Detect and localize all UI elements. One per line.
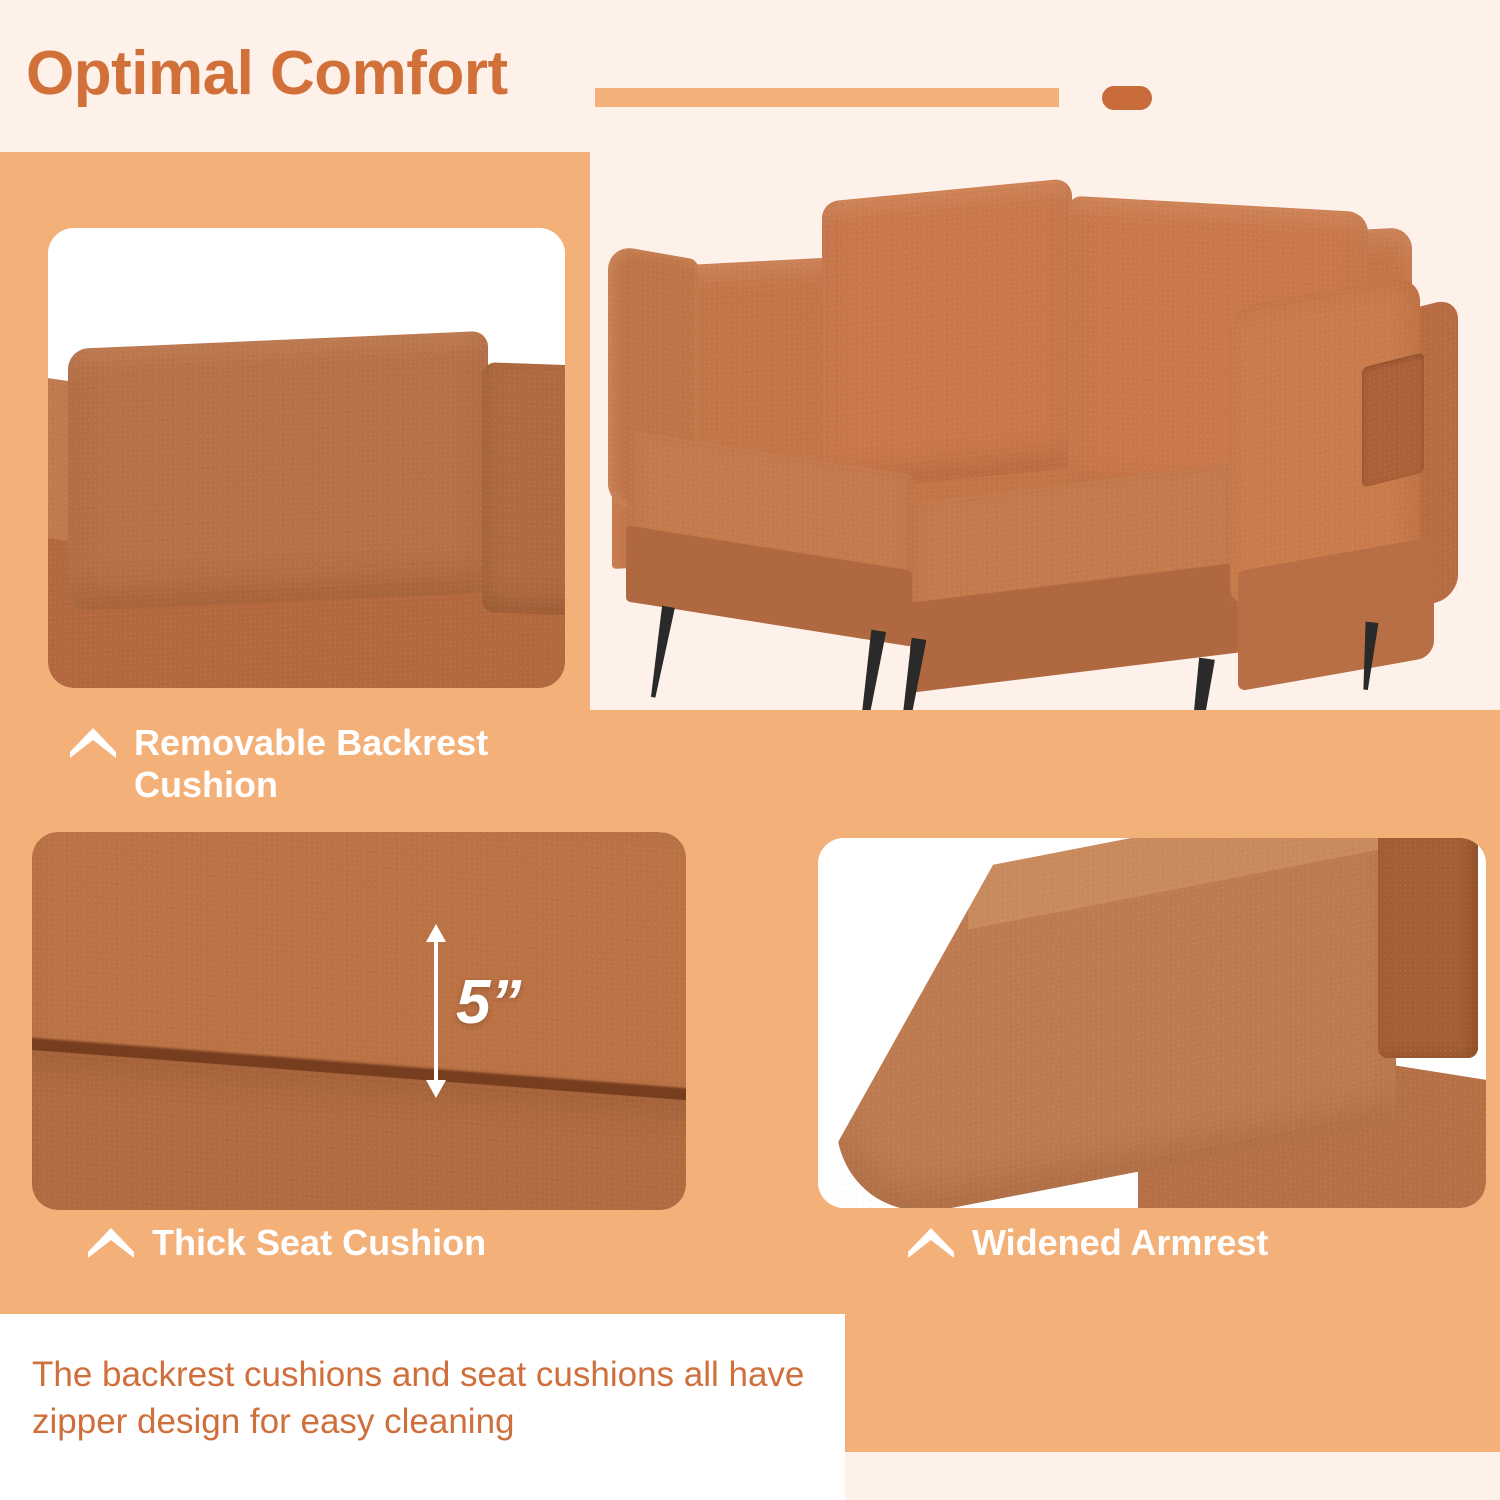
sofa-side-pocket bbox=[1362, 352, 1424, 487]
footer-cream-strip bbox=[845, 1452, 1500, 1500]
sofa-leg bbox=[646, 606, 675, 699]
caption-thick-seat-cushion: Thick Seat Cushion bbox=[88, 1222, 486, 1264]
description-text: The backrest cushions and seat cushions … bbox=[32, 1352, 832, 1446]
title-accent-pill bbox=[1102, 86, 1152, 110]
chevron-up-icon bbox=[70, 728, 116, 758]
closeup-backrest-cushion-side bbox=[482, 362, 565, 616]
backrest-cushion-photo-card bbox=[48, 228, 565, 688]
sofa-leg bbox=[853, 630, 886, 710]
dimension-label: 5” bbox=[456, 972, 521, 1034]
sofa-backrest-cushion-left bbox=[822, 178, 1072, 492]
seat-cushion-photo-card bbox=[32, 832, 686, 1210]
caption-label: Removable Backrest Cushion bbox=[134, 722, 488, 807]
armrest-photo-card bbox=[818, 838, 1486, 1208]
closeup-backrest-cushion-main bbox=[68, 331, 488, 611]
dimension-arrow-head-bottom bbox=[426, 1080, 446, 1098]
caption-widened-armrest: Widened Armrest bbox=[908, 1222, 1268, 1264]
caption-label: Widened Armrest bbox=[972, 1222, 1268, 1264]
caption-label: Thick Seat Cushion bbox=[152, 1222, 486, 1264]
page-title: Optimal Comfort bbox=[26, 38, 508, 109]
chevron-up-icon bbox=[88, 1228, 134, 1258]
infographic-canvas: Optimal Comfort bbox=[0, 0, 1500, 1500]
title-underline-bar bbox=[595, 88, 1059, 107]
sofa-illustration bbox=[590, 152, 1500, 710]
caption-removable-backrest-cushion: Removable Backrest Cushion bbox=[70, 722, 488, 807]
dimension-arrow-line bbox=[434, 938, 438, 1084]
hero-sofa-photo bbox=[590, 152, 1500, 710]
closeup-armrest-backrest-cushion bbox=[1378, 838, 1478, 1058]
sofa-leg bbox=[1181, 658, 1215, 710]
header: Optimal Comfort bbox=[0, 0, 1500, 152]
chevron-up-icon bbox=[908, 1228, 954, 1258]
